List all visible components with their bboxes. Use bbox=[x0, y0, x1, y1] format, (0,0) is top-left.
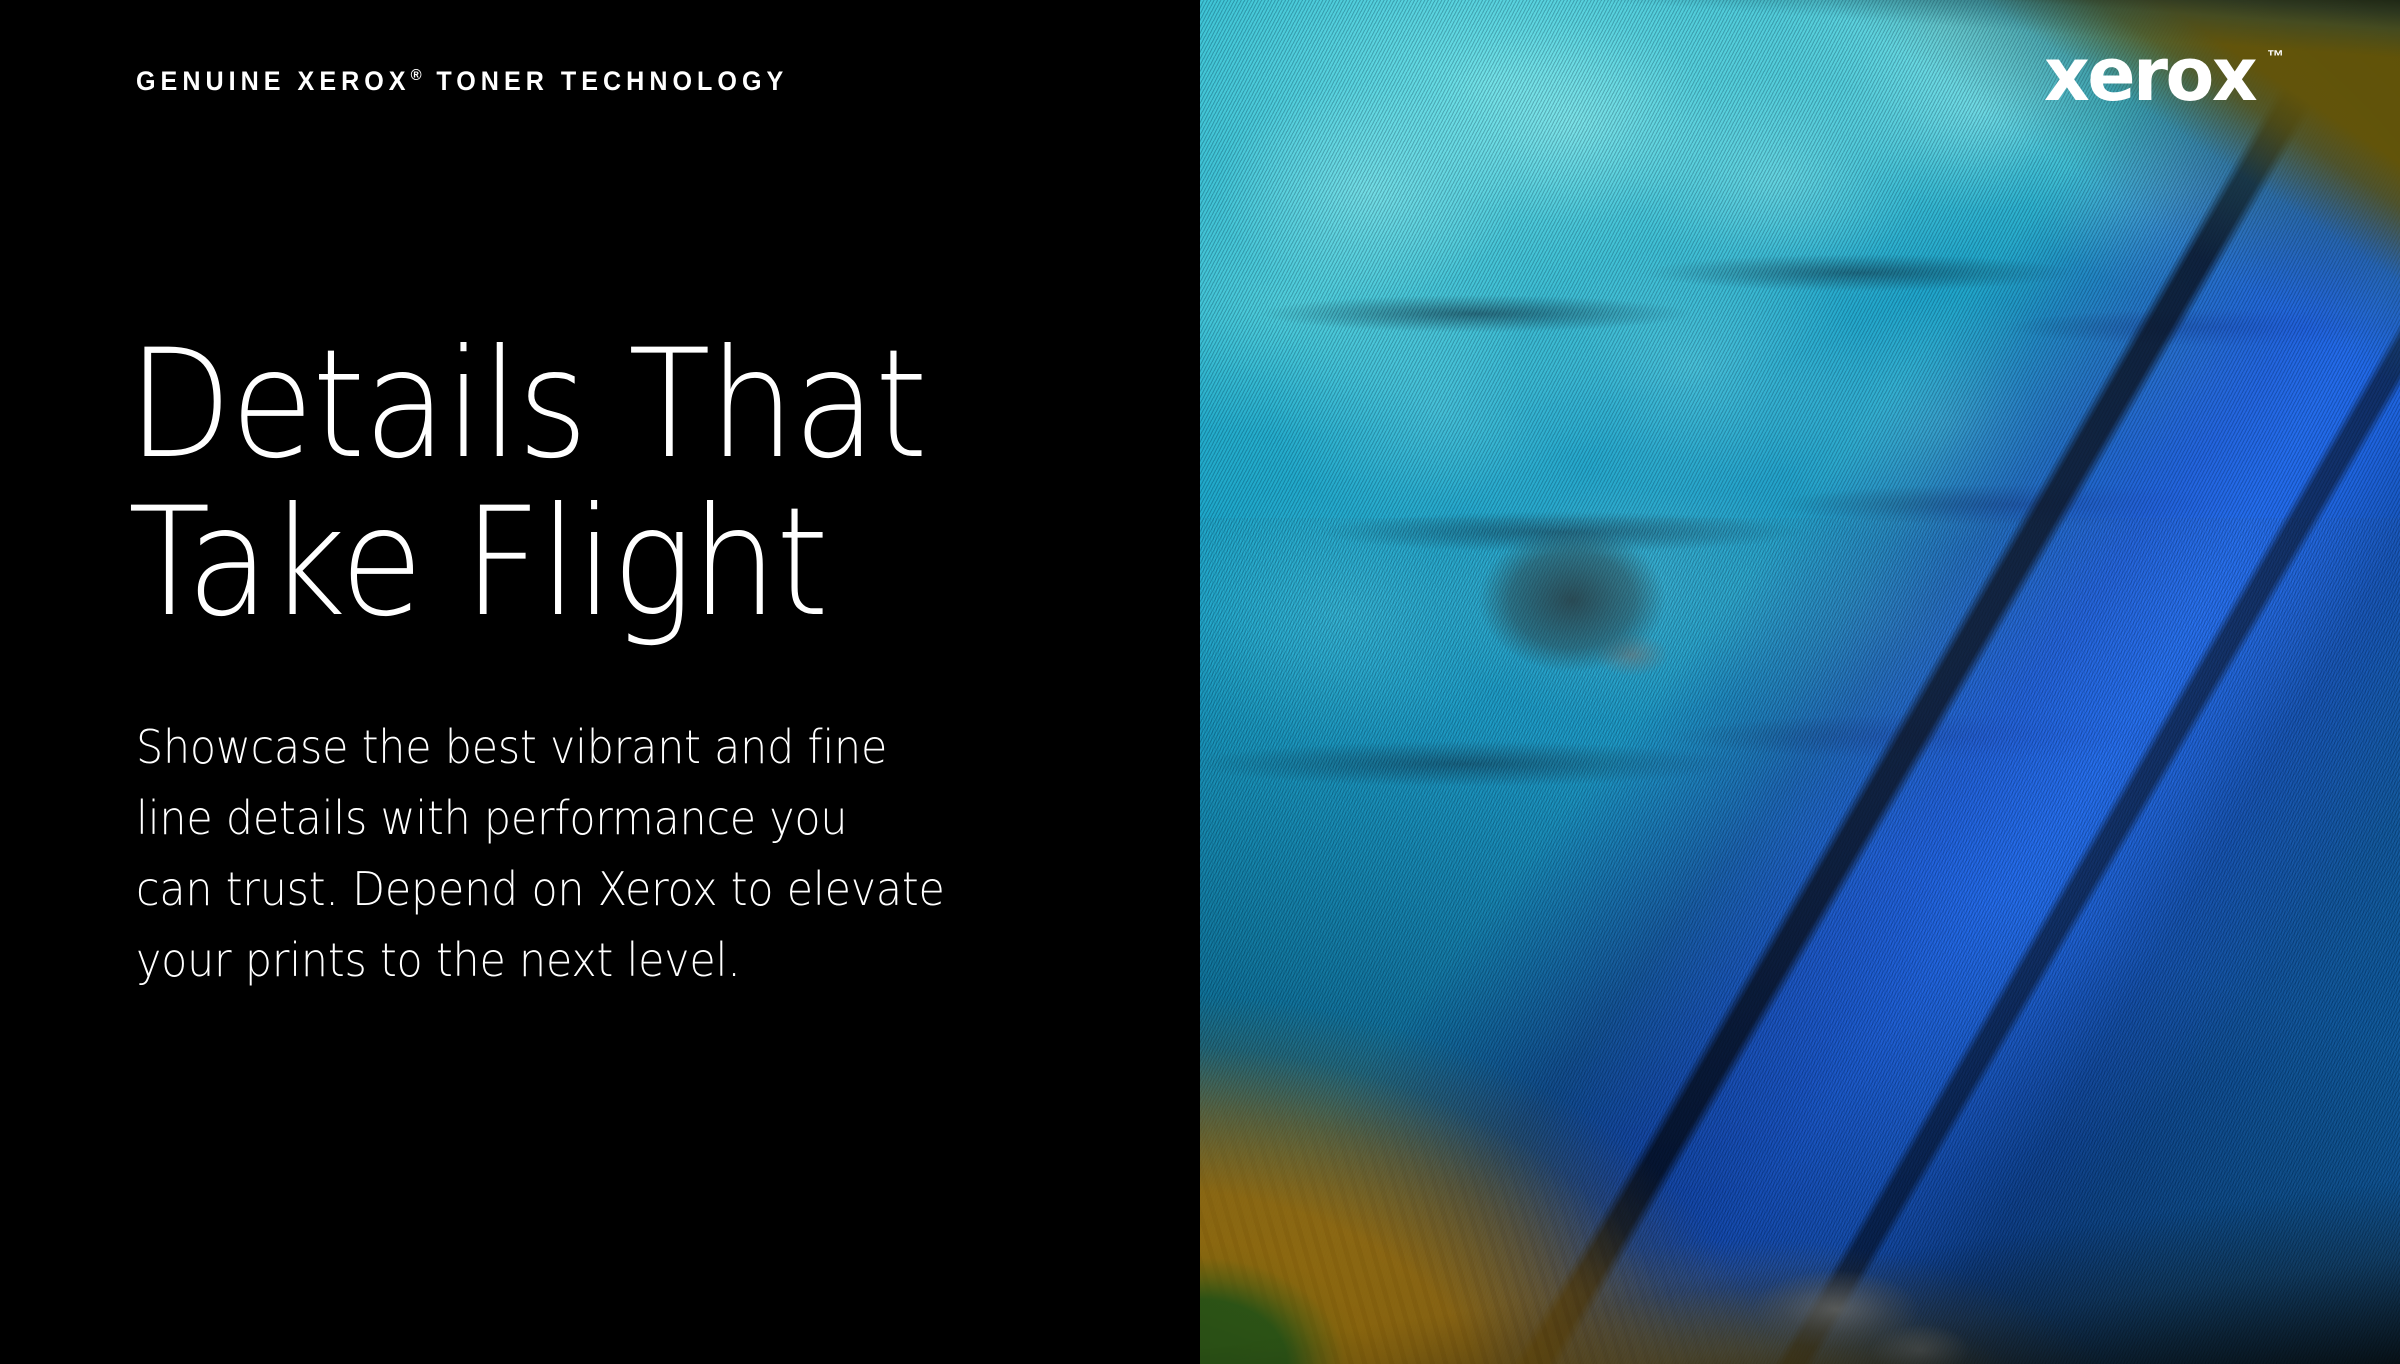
xerox-logo: xerox ™ bbox=[2044, 38, 2284, 112]
eyebrow-label: GENUINE XEROX® TONER TECHNOLOGY bbox=[136, 68, 788, 95]
body-copy-line-2: line details with performance you bbox=[136, 783, 824, 854]
left-text-panel: GENUINE XEROX® TONER TECHNOLOGY Details … bbox=[0, 0, 1200, 1364]
photo-vignette bbox=[1200, 0, 2400, 1364]
body-copy: Showcase the best vibrant and fine line … bbox=[136, 712, 824, 996]
eyebrow-suffix: TONER TECHNOLOGY bbox=[424, 66, 788, 96]
body-copy-line-1: Showcase the best vibrant and fine bbox=[136, 712, 824, 783]
page-title: Details That Take Flight bbox=[128, 326, 1046, 642]
trademark-icon: ™ bbox=[2267, 48, 2284, 65]
eyebrow-prefix: GENUINE XEROX bbox=[136, 66, 411, 96]
xerox-logo-wordmark: xerox bbox=[2044, 38, 2255, 112]
feather-photograph: xerox ™ bbox=[1200, 0, 2400, 1364]
marketing-slide: GENUINE XEROX® TONER TECHNOLOGY Details … bbox=[0, 0, 2400, 1364]
body-copy-line-3: can trust. Depend on Xerox to elevate bbox=[136, 854, 824, 925]
headline-line-2: Take Flight bbox=[128, 484, 1046, 642]
registered-mark-icon: ® bbox=[411, 67, 425, 84]
body-copy-line-4: your prints to the next level. bbox=[136, 925, 824, 996]
headline-line-1: Details That bbox=[128, 326, 1046, 484]
